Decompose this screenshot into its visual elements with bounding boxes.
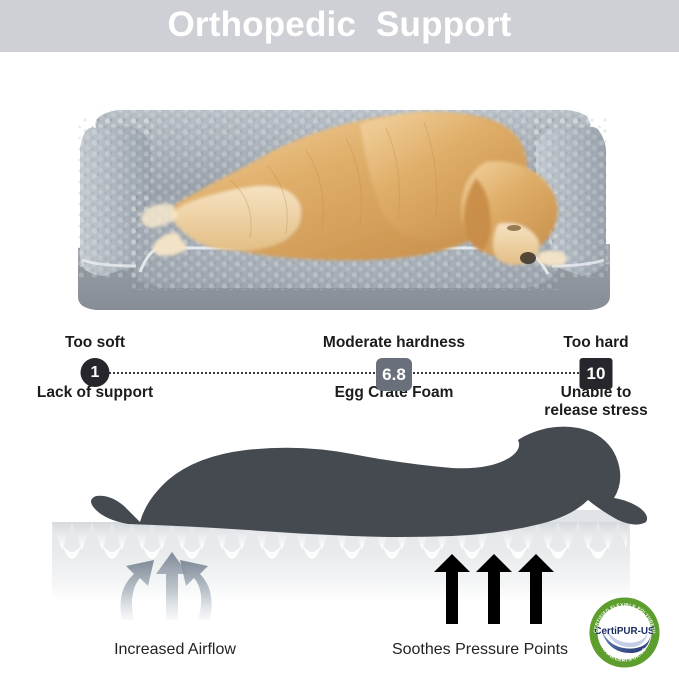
pressure-arrows — [434, 554, 554, 624]
logo-center-text: CertiPUR-US — [594, 626, 655, 637]
product-photo — [0, 52, 679, 324]
scale-marker-moderate: 6.8 — [376, 358, 412, 391]
scale-marker-soft: 1 — [81, 358, 110, 387]
scale-label-too-soft: Too soft — [65, 334, 125, 352]
page-title: Orthopedic Support — [0, 0, 679, 52]
header-band: Orthopedic Support — [0, 0, 679, 52]
scale-label-moderate-hardness: Moderate hardness — [323, 334, 465, 352]
scale-marker-hard: 10 — [580, 358, 613, 389]
dog-nose — [520, 252, 536, 264]
dog-on-bed-illustration — [0, 52, 679, 324]
dog-eye — [507, 225, 521, 231]
scale-track-line — [104, 372, 591, 376]
certipur-us-logo: CertiPUR-US ® CONTAINS CERTIFIED FLEXIBL… — [578, 596, 671, 669]
caption-soothes-pressure-points: Soothes Pressure Points — [392, 641, 568, 659]
scale-sublabel-unable-to-release-stress: Unable to release stress — [544, 384, 647, 420]
scale-sublabel-line-2: release stress — [544, 402, 647, 420]
hardness-scale: Too soft 1 Lack of support Moderate hard… — [0, 326, 679, 426]
caption-increased-airflow: Increased Airflow — [114, 641, 236, 659]
scale-label-too-hard: Too hard — [563, 334, 628, 352]
